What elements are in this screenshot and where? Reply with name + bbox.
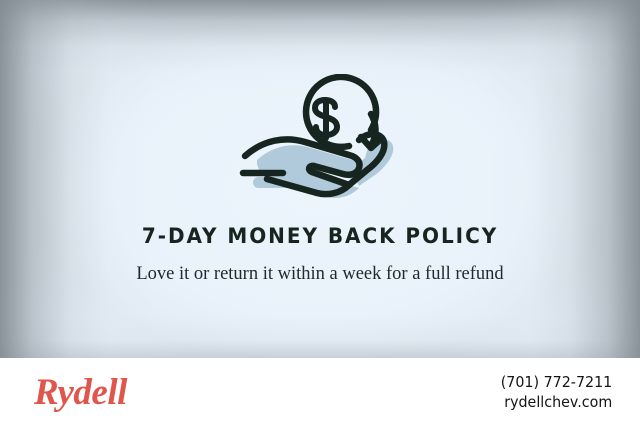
footer-bar: Rydell (701) 772-7211 rydellchev.com bbox=[0, 358, 640, 427]
promo-panel: 7-DAY MONEY BACK POLICY Love it or retur… bbox=[0, 0, 640, 358]
hand-holding-money-return-icon bbox=[231, 74, 409, 214]
website-url[interactable]: rydellchev.com bbox=[500, 392, 612, 412]
copy-block: 7-DAY MONEY BACK POLICY Love it or retur… bbox=[0, 224, 640, 287]
promo-subtitle: Love it or return it within a week for a… bbox=[135, 262, 505, 287]
money-back-policy-ad: 7-DAY MONEY BACK POLICY Love it or retur… bbox=[0, 0, 640, 427]
contact-block: (701) 772-7211 rydellchev.com bbox=[491, 373, 612, 412]
dollar-sign-glyph bbox=[315, 100, 337, 138]
phone-number[interactable]: (701) 772-7211 bbox=[500, 373, 612, 392]
rydell-logo[interactable]: Rydell bbox=[34, 373, 127, 413]
promo-headline: 7-DAY MONEY BACK POLICY bbox=[78, 224, 562, 250]
icon-container bbox=[0, 74, 640, 214]
